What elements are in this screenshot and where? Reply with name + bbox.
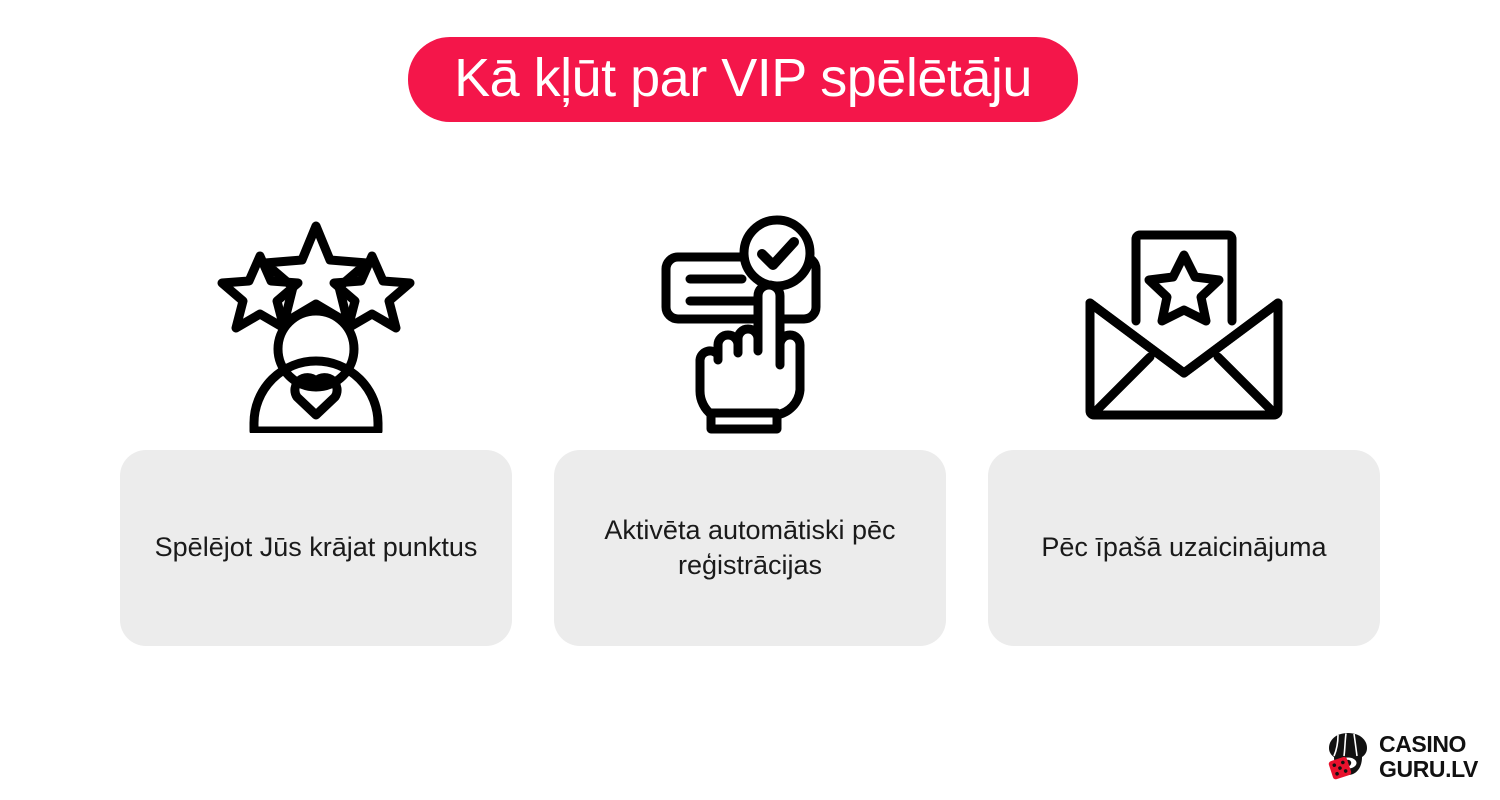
caption-card-3: Pēc īpašā uzaicinājuma [988, 450, 1380, 646]
casino-guru-logo[interactable]: CASINO GURU.LV [1326, 732, 1478, 782]
step-column-2: Aktivēta automātiski pēc reģistrācijas [554, 200, 946, 690]
logo-line-2: GURU.LV [1379, 758, 1478, 781]
caption-text-2: Aktivēta automātiski pēc reģistrācijas [580, 513, 920, 583]
caption-card-2: Aktivēta automātiski pēc reģistrācijas [554, 450, 946, 646]
caption-text-1: Spēlējot Jūs krājat punktus [155, 530, 478, 565]
page-title: Kā kļūt par VIP spēlētāju [454, 51, 1032, 109]
logo-line-1: CASINO [1379, 733, 1478, 756]
caption-text-3: Pēc īpašā uzaicinājuma [1041, 530, 1326, 565]
person-stars-heart-icon [216, 200, 416, 450]
steps-row: Spēlējot Jūs krājat punktus [0, 200, 1500, 690]
infographic-page: Kā kļūt par VIP spēlētāju [0, 0, 1500, 800]
casino-guru-head-dice-icon [1326, 732, 1370, 782]
envelope-star-letter-icon [1084, 200, 1284, 450]
logo-wordmark: CASINO GURU.LV [1379, 733, 1478, 781]
step-column-1: Spēlējot Jūs krājat punktus [120, 200, 512, 690]
caption-card-1: Spēlējot Jūs krājat punktus [120, 450, 512, 646]
hand-click-form-check-icon [660, 200, 840, 450]
title-banner: Kā kļūt par VIP spēlētāju [408, 37, 1078, 122]
step-column-3: Pēc īpašā uzaicinājuma [988, 200, 1380, 690]
